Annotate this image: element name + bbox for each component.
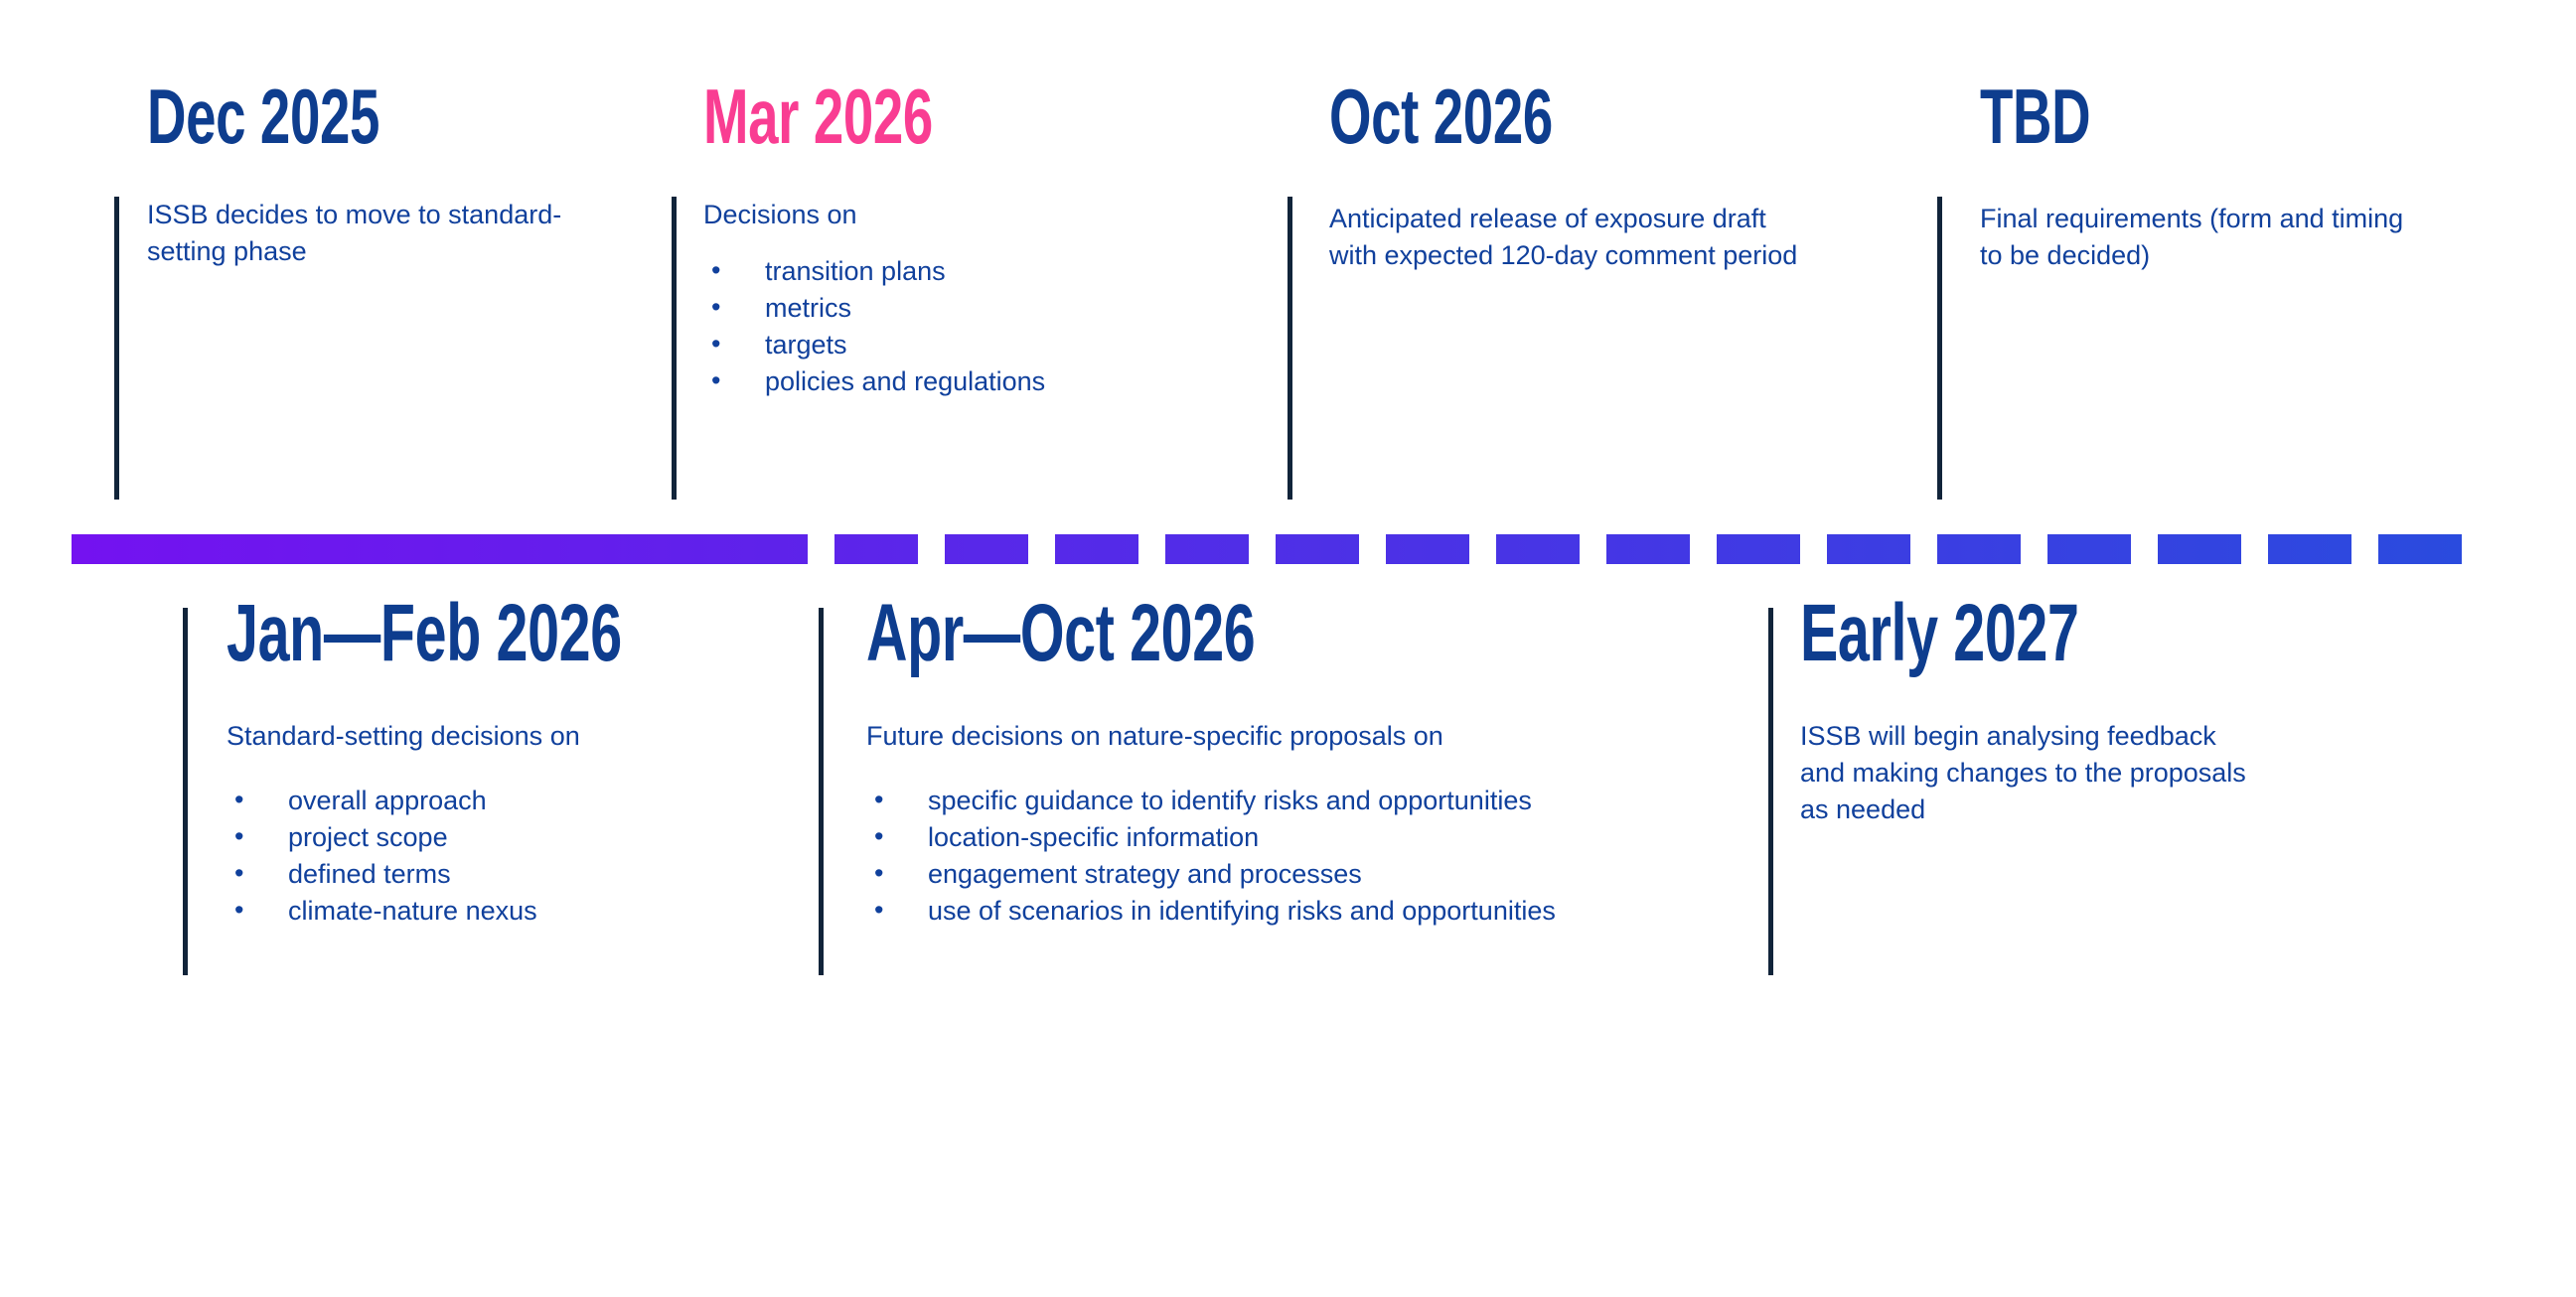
milestone-early-2027: Early 2027 ISSB will begin analysing fee… (1800, 596, 2317, 828)
divider-mar-2026 (672, 197, 677, 500)
bullet-list-apr-oct-2026: specific guidance to identify risks and … (866, 783, 1681, 930)
timeline-dash-15 (2378, 534, 2462, 564)
milestone-dec-2025: Dec 2025 ISSB decides to move to standar… (147, 81, 544, 270)
milestone-lead-early-2027: ISSB will begin analysing feedback and m… (1800, 718, 2247, 828)
timeline-dash-6 (1386, 534, 1469, 564)
milestone-oct-2026: Oct 2026 Anticipated release of exposure… (1329, 81, 1826, 274)
divider-jan-feb-2026-right (819, 608, 824, 975)
bullet-item: targets (703, 327, 1170, 363)
milestone-lead-oct-2026: Anticipated release of exposure draft wi… (1329, 201, 1816, 274)
milestone-title-early-2027: Early 2027 (1800, 596, 2322, 670)
milestone-lead-jan-feb-2026: Standard-setting decisions on (227, 718, 783, 755)
bullet-item: transition plans (703, 253, 1170, 290)
milestone-lead-tbd: Final requirements (form and timing to b… (1980, 201, 2417, 274)
bullet-item: location-specific information (866, 819, 1653, 856)
timeline-solid-segment (72, 534, 808, 564)
milestone-tbd: TBD Final requirements (form and timing … (1980, 81, 2437, 274)
timeline-dash-12 (2047, 534, 2131, 564)
bullet-item: engagement strategy and processes (866, 856, 1653, 893)
bullet-item: project scope (227, 819, 823, 856)
milestone-title-oct-2026: Oct 2026 (1329, 81, 1691, 153)
milestone-title-tbd: TBD (1980, 81, 2342, 153)
timeline-dash-11 (1937, 534, 2021, 564)
divider-oct-2026 (1288, 197, 1292, 500)
bullet-item: defined terms (227, 856, 823, 893)
timeline-dash-4 (1165, 534, 1249, 564)
milestone-lead-dec-2025: ISSB decides to move to standard-setting… (147, 197, 564, 270)
milestone-jan-feb-2026: Jan—Feb 2026 Standard-setting decisions … (227, 596, 823, 930)
milestone-lead-mar-2026: Decisions on (703, 197, 1160, 233)
bullet-item: specific guidance to identify risks and … (866, 783, 1653, 819)
milestone-title-jan-feb-2026: Jan—Feb 2026 (227, 596, 818, 670)
divider-tbd (1937, 197, 1942, 500)
bullet-list-mar-2026: transition plans metrics targets policie… (703, 253, 1170, 400)
timeline-dash-9 (1717, 534, 1800, 564)
divider-jan-feb-2026-left (183, 608, 188, 975)
bullet-item: overall approach (227, 783, 823, 819)
bullet-item: climate-nature nexus (227, 893, 823, 930)
timeline-dash-2 (945, 534, 1028, 564)
timeline-bar (72, 534, 2476, 564)
timeline-infographic: Dec 2025 ISSB decides to move to standar… (0, 0, 2576, 1297)
bullet-list-jan-feb-2026: overall approach project scope defined t… (227, 783, 823, 930)
timeline-dash-5 (1276, 534, 1359, 564)
timeline-dash-13 (2158, 534, 2241, 564)
milestone-title-dec-2025: Dec 2025 (147, 81, 509, 153)
milestone-mar-2026: Mar 2026 Decisions on transition plans m… (703, 81, 1170, 400)
divider-dec-2025 (114, 197, 119, 500)
timeline-dash-8 (1606, 534, 1690, 564)
bullet-item: metrics (703, 290, 1170, 327)
milestone-title-apr-oct-2026: Apr—Oct 2026 (866, 596, 1457, 670)
milestone-lead-apr-oct-2026: Future decisions on nature-specific prop… (866, 718, 1681, 755)
timeline-dash-10 (1827, 534, 1910, 564)
timeline-dash-1 (834, 534, 918, 564)
milestone-apr-oct-2026: Apr—Oct 2026 Future decisions on nature-… (866, 596, 1681, 930)
bullet-item: use of scenarios in identifying risks an… (866, 893, 1653, 930)
divider-early-2027 (1768, 608, 1773, 975)
timeline-dash-14 (2268, 534, 2351, 564)
timeline-dash-7 (1496, 534, 1580, 564)
bullet-item: policies and regulations (703, 363, 1170, 400)
timeline-dash-3 (1055, 534, 1138, 564)
milestone-title-mar-2026: Mar 2026 (703, 81, 1065, 153)
